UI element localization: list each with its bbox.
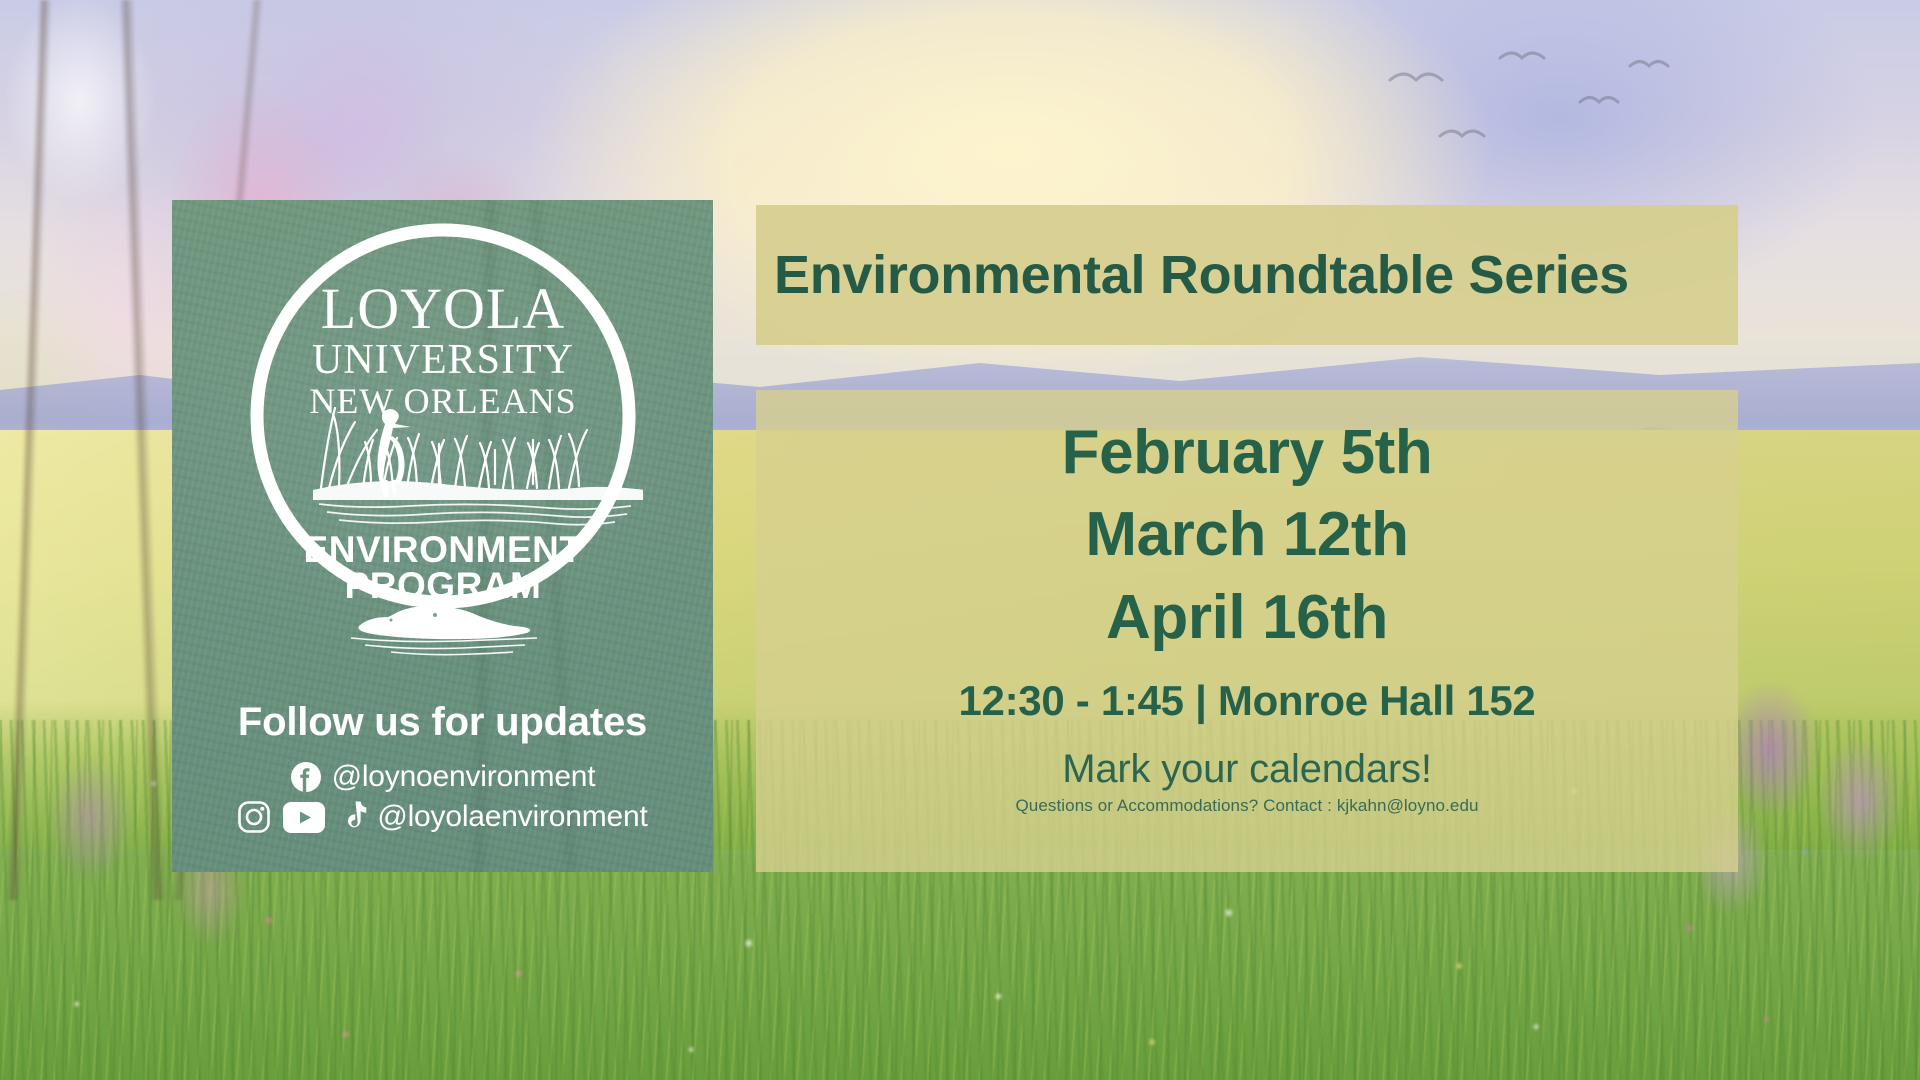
date-item-1: February 5th — [756, 412, 1738, 494]
svg-text:NEW ORLEANS: NEW ORLEANS — [309, 381, 576, 421]
page-title: Environmental Roundtable Series — [756, 244, 1629, 306]
youtube-icon[interactable] — [283, 802, 325, 833]
loyola-environment-logo-card: LOYOLA UNIVERSITY NEW ORLEANS — [172, 200, 713, 872]
social-links: @loynoenvironment @loy — [172, 760, 713, 840]
shared-handle[interactable]: @loyolaenvironment — [377, 800, 647, 834]
date-item-3: April 16th — [756, 577, 1738, 659]
title-banner: Environmental Roundtable Series — [756, 205, 1738, 345]
alligator-icon — [343, 598, 543, 658]
social-row-facebook[interactable]: @loynoenvironment — [172, 760, 713, 794]
tiktok-icon[interactable] — [337, 800, 367, 834]
call-to-action: Mark your calendars! — [1062, 747, 1431, 792]
date-item-2: March 12th — [756, 494, 1738, 576]
event-info-panel: February 5th March 12th April 16th 12:30… — [756, 390, 1738, 872]
accommodations-note: Questions or Accommodations? Contact : k… — [1015, 796, 1478, 816]
facebook-icon[interactable] — [290, 761, 322, 793]
date-list: February 5th March 12th April 16th — [756, 412, 1738, 659]
instagram-icon[interactable] — [237, 800, 271, 834]
time-and-location: 12:30 - 1:45 | Monroe Hall 152 — [959, 677, 1536, 725]
loyola-seal-icon: LOYOLA UNIVERSITY NEW ORLEANS — [243, 216, 643, 616]
birds-icon — [1380, 40, 1720, 180]
social-icon-group[interactable] — [237, 800, 367, 834]
svg-text:ENVIRONMENT: ENVIRONMENT — [303, 529, 582, 570]
facebook-handle[interactable]: @loynoenvironment — [332, 760, 596, 794]
social-row-shared[interactable]: @loyolaenvironment — [172, 800, 713, 834]
svg-text:UNIVERSITY: UNIVERSITY — [312, 337, 574, 383]
follow-heading: Follow us for updates — [172, 700, 713, 745]
svg-text:LOYOLA: LOYOLA — [320, 276, 564, 341]
